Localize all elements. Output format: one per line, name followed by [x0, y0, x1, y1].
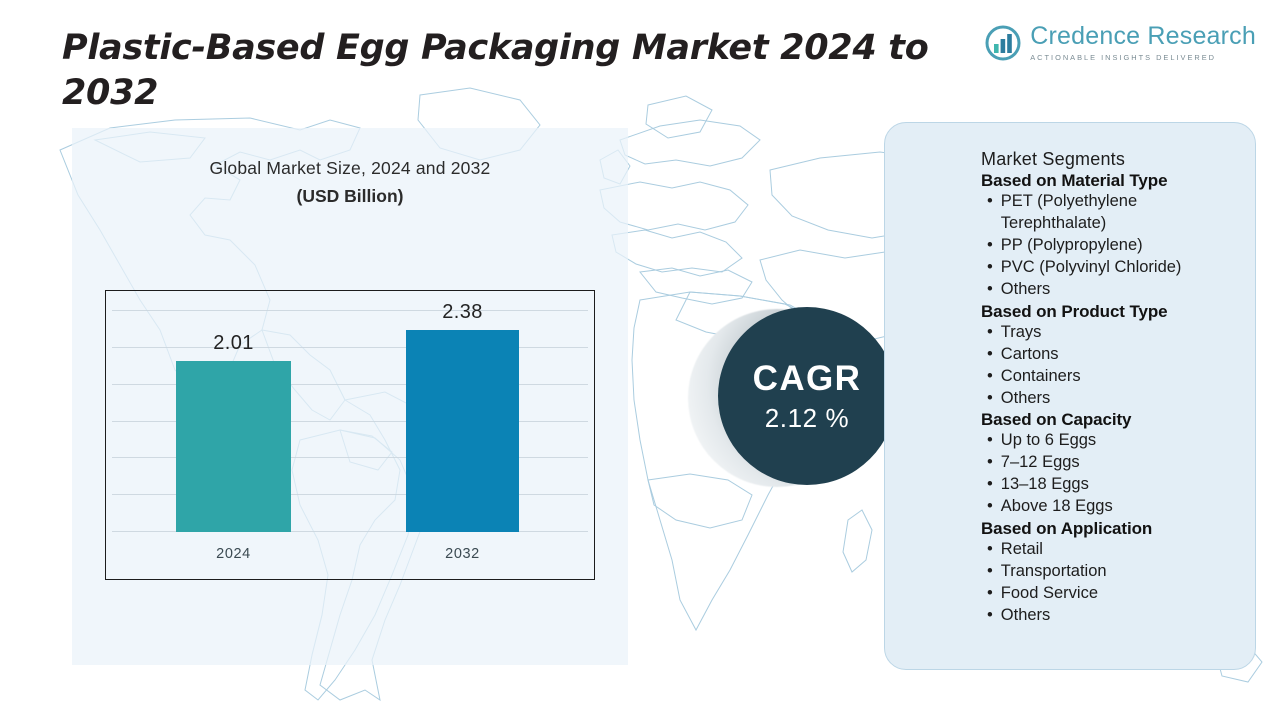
segments-list-item-label: Trays	[1001, 322, 1237, 344]
segments-list-item: •Food Service	[981, 583, 1237, 605]
segments-list-item-label: PP (Polypropylene)	[1001, 235, 1237, 257]
segments-list-item: •PP (Polypropylene)	[981, 235, 1237, 257]
segments-group-list: Based on Material Type•PET (Polyethylene…	[981, 171, 1237, 627]
bullet-icon: •	[987, 430, 993, 452]
cagr-value: 2.12 %	[765, 405, 850, 431]
segments-list-item: •Containers	[981, 366, 1237, 388]
bullet-icon: •	[987, 452, 993, 474]
bullet-icon: •	[987, 257, 993, 279]
segments-list-item-label: Food Service	[1001, 583, 1237, 605]
bar-chart: 2.0120242.382032	[105, 290, 595, 580]
bullet-icon: •	[987, 474, 993, 496]
infographic-page: Plastic-Based Egg Packaging Market 2024 …	[0, 0, 1280, 720]
bullet-icon: •	[987, 539, 993, 561]
segments-list-item-label: Retail	[1001, 539, 1237, 561]
segments-list-item-label: 13–18 Eggs	[1001, 474, 1237, 496]
chart-bar-value-label: 2.01	[164, 332, 304, 355]
segments-list-item: •Trays	[981, 322, 1237, 344]
segments-list-item-label: Containers	[1001, 366, 1237, 388]
logo-bar-chart-icon	[985, 25, 1021, 61]
chart-heading-line2: (USD Billion)	[72, 186, 628, 207]
page-title: Plastic-Based Egg Packaging Market 2024 …	[62, 26, 1002, 116]
segments-list-item-label: Transportation	[1001, 561, 1237, 583]
segments-list-item-label: PET (Polyethylene Terephthalate)	[1001, 191, 1237, 235]
segments-list-item: •Up to 6 Eggs	[981, 430, 1237, 452]
segments-list-item: •PVC (Polyvinyl Chloride)	[981, 257, 1237, 279]
logo-brand-name: Credence Research	[1030, 24, 1256, 49]
segments-list-item: •Others	[981, 605, 1237, 627]
segments-list-item-label: Others	[1001, 279, 1237, 301]
segments-list-item-label: Others	[1001, 388, 1237, 410]
logo-tagline: Actionable Insights Delivered	[1030, 53, 1256, 62]
bullet-icon: •	[987, 388, 993, 410]
segments-list-item: •PET (Polyethylene Terephthalate)	[981, 191, 1237, 235]
segments-list-item-label: Cartons	[1001, 344, 1237, 366]
segments-group-heading: Based on Product Type	[981, 302, 1237, 322]
bullet-icon: •	[987, 561, 993, 583]
segments-list-item: •Retail	[981, 539, 1237, 561]
chart-bar-value-label: 2.38	[393, 301, 533, 324]
bullet-icon: •	[987, 496, 993, 518]
segments-group-heading: Based on Capacity	[981, 410, 1237, 430]
bullet-icon: •	[987, 605, 993, 627]
market-segments-panel: Market Segments Based on Material Type•P…	[884, 122, 1256, 670]
cagr-circle: CAGR 2.12 %	[718, 307, 896, 485]
cagr-badge: CAGR 2.12 %	[688, 307, 898, 492]
segments-list-item: •Above 18 Eggs	[981, 496, 1237, 518]
bullet-icon: •	[987, 191, 993, 235]
segments-list-item: •Others	[981, 388, 1237, 410]
chart-bars: 2.0120242.382032	[106, 291, 594, 579]
segments-list-item-label: 7–12 Eggs	[1001, 452, 1237, 474]
segments-list-item-label: Above 18 Eggs	[1001, 496, 1237, 518]
segments-list-item-label: PVC (Polyvinyl Chloride)	[1001, 257, 1237, 279]
segments-title: Market Segments	[981, 149, 1237, 170]
chart-heading: Global Market Size, 2024 and 2032 (USD B…	[72, 158, 628, 207]
chart-category-label: 2024	[164, 546, 304, 562]
segments-list-item: •13–18 Eggs	[981, 474, 1237, 496]
segments-group-heading: Based on Application	[981, 519, 1237, 539]
segments-list-item: •7–12 Eggs	[981, 452, 1237, 474]
bullet-icon: •	[987, 583, 993, 605]
segments-list-item: •Transportation	[981, 561, 1237, 583]
bullet-icon: •	[987, 366, 993, 388]
chart-bar	[406, 330, 519, 532]
segments-list-item: •Others	[981, 279, 1237, 301]
cagr-label: CAGR	[753, 361, 862, 396]
bullet-icon: •	[987, 322, 993, 344]
chart-heading-line1: Global Market Size, 2024 and 2032	[72, 158, 628, 179]
segments-list-item-label: Others	[1001, 605, 1237, 627]
chart-bar	[176, 361, 291, 532]
bullet-icon: •	[987, 279, 993, 301]
brand-logo: Credence Research Actionable Insights De…	[985, 24, 1256, 62]
bullet-icon: •	[987, 344, 993, 366]
segments-group-heading: Based on Material Type	[981, 171, 1237, 191]
segments-list-item-label: Up to 6 Eggs	[1001, 430, 1237, 452]
segments-list-item: •Cartons	[981, 344, 1237, 366]
chart-category-label: 2032	[393, 546, 533, 562]
bullet-icon: •	[987, 235, 993, 257]
